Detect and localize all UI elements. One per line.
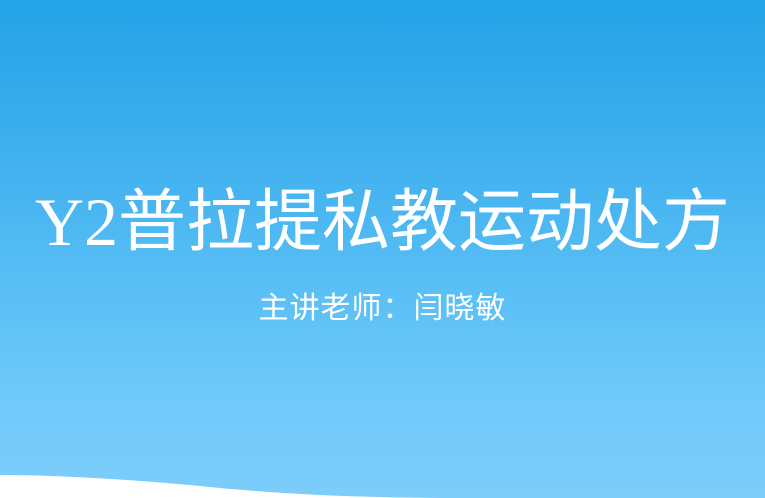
bottom-wave-decoration [0, 468, 765, 498]
page-title: Y2普拉提私教运动处方 [0, 183, 765, 261]
presenter-subtitle: 主讲老师：闫晓敏 [0, 289, 765, 329]
presentation-title-slide: Y2普拉提私教运动处方 主讲老师：闫晓敏 [0, 0, 765, 498]
slide-content: Y2普拉提私教运动处方 主讲老师：闫晓敏 [0, 0, 765, 498]
